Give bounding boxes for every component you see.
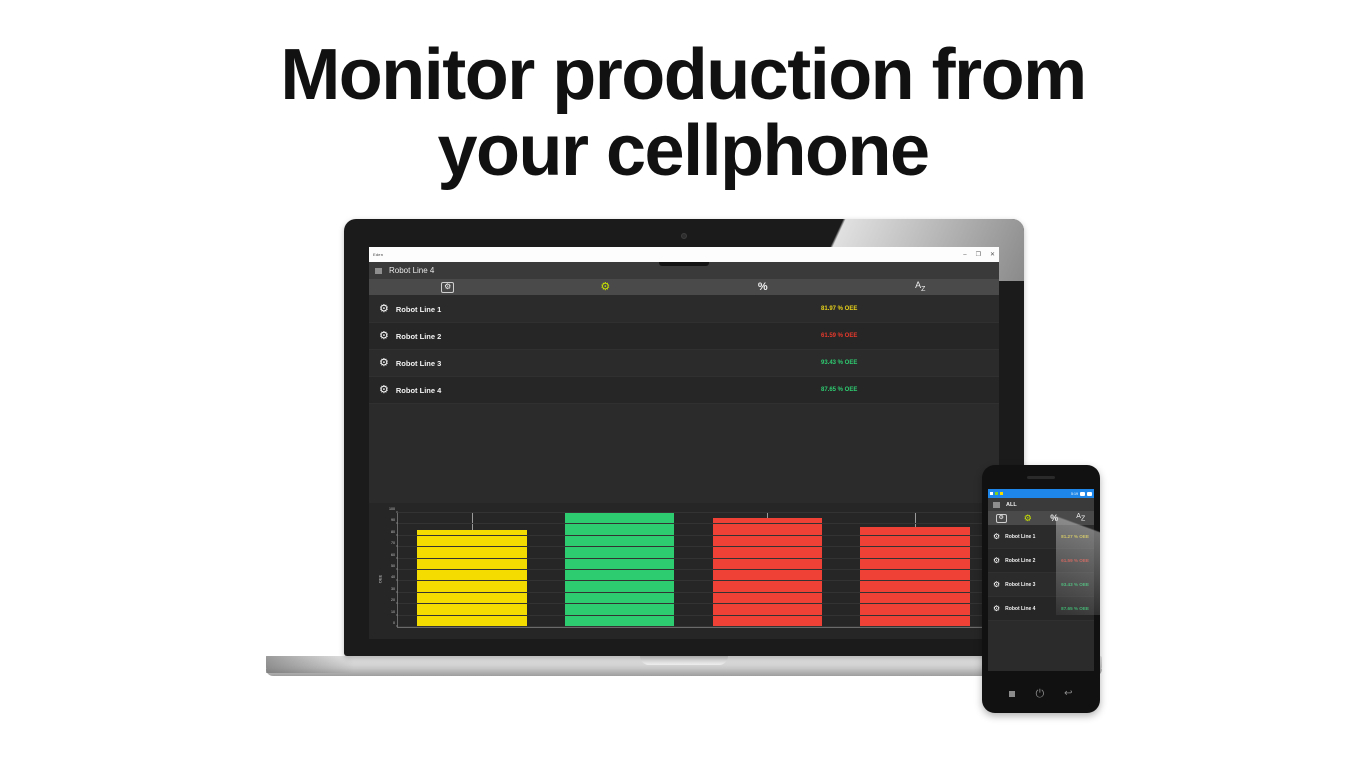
chart-y-tick-mark: [396, 626, 398, 627]
gear-icon: ⚙: [993, 581, 1000, 589]
machine-name: Robot Line 1: [396, 305, 441, 314]
status-time: 5:19: [1071, 492, 1078, 496]
headline-line-2: your cellphone: [0, 114, 1366, 190]
chart-y-tick-label: 100: [389, 507, 398, 511]
chart-gridline: [398, 603, 989, 604]
chart-y-tick-mark: [396, 546, 398, 547]
machine-name: Robot Line 1: [1005, 534, 1061, 540]
chart-gridline: [398, 512, 989, 513]
status-system-icons: 5:19: [1071, 492, 1092, 496]
percent-icon: %: [1050, 514, 1058, 523]
phone-machine-list: ⚙ Robot Line 1 81.27 % OEE ⚙ Robot Line …: [988, 525, 1094, 621]
chart-bar-cell: [841, 513, 989, 627]
machine-view-glyph: ⚙: [999, 515, 1004, 521]
machine-name: Robot Line 2: [1005, 558, 1061, 564]
close-button[interactable]: ✕: [990, 252, 995, 258]
laptop-screen-notch: [659, 262, 709, 266]
chart-gridline: [398, 546, 989, 547]
toolbar-gear-status[interactable]: ⚙: [527, 279, 685, 295]
chart-gridline: [398, 626, 989, 627]
gear-icon: ⚙: [993, 557, 1000, 565]
machine-view-glyph: ⚙: [444, 283, 451, 291]
chart-y-tick-mark: [396, 614, 398, 615]
toolbar-machine-view[interactable]: ⚙: [369, 279, 527, 295]
gear-icon: ⚙: [379, 304, 389, 315]
laptop-screen: Eden – ❐ ✕ Robot Line 4: [369, 247, 999, 639]
chart-bar[interactable]: [860, 527, 969, 627]
machine-name: Robot Line 2: [396, 332, 441, 341]
chart-y-axis-label: OEE: [378, 574, 383, 582]
laptop-mockup: Eden – ❐ ✕ Robot Line 4: [344, 219, 1024, 659]
battery-icon: [1087, 492, 1092, 496]
window-app-name: Eden: [373, 252, 383, 257]
list-item[interactable]: ⚙ Robot Line 2 61.59 % OEE: [988, 549, 1094, 573]
oee-value: 87.65 % OEE: [821, 387, 857, 393]
toolbar-percent[interactable]: %: [684, 279, 842, 295]
table-row[interactable]: ⚙ Robot Line 2 61.59 % OEE: [369, 323, 999, 350]
phone-toolbar-machine-view[interactable]: ⚙: [988, 511, 1015, 525]
phone-toolbar: ⚙ ⚙ % AZ: [988, 511, 1094, 525]
chart-y-tick-label: 50: [391, 564, 398, 568]
phone-app-header: ALL: [988, 498, 1094, 511]
chart-y-tick-label: 80: [391, 530, 398, 534]
webcam-icon: [681, 233, 687, 239]
chart-y-tick-mark: [396, 557, 398, 558]
sort-az-icon: AZ: [915, 281, 925, 293]
gear-icon: ⚙: [379, 385, 389, 396]
page-title: Monitor production from your cellphone: [0, 38, 1366, 189]
laptop-base-edge: [266, 669, 1102, 676]
oee-value: 93.43 % OEE: [1061, 582, 1089, 587]
chart-bar-cell: [398, 513, 546, 627]
chart-y-tick-label: 0: [393, 621, 398, 625]
chart-bar[interactable]: [565, 513, 674, 627]
headline-line-1: Monitor production from: [280, 35, 1085, 115]
power-icon[interactable]: ⏻: [1035, 689, 1044, 700]
sort-az-letter-z: Z: [921, 286, 925, 293]
window-controls: – ❐ ✕: [963, 247, 995, 262]
status-icon-3: [1000, 492, 1003, 495]
chart-y-tick-mark: [396, 569, 398, 570]
machine-view-icon: ⚙: [996, 514, 1007, 523]
gear-icon: ⚙: [379, 358, 389, 369]
machine-list: ⚙ Robot Line 1 81.97 % OEE ⚙ Robot Line …: [369, 296, 999, 404]
phone-app-title: ALL: [1006, 502, 1017, 508]
status-icon-2: [995, 492, 998, 495]
laptop-base-shadow: [266, 656, 354, 673]
chart-y-tick-label: 90: [391, 518, 398, 522]
list-item[interactable]: ⚙ Robot Line 3 93.43 % OEE: [988, 573, 1094, 597]
phone-toolbar-percent[interactable]: %: [1041, 511, 1068, 525]
chart-error-bar: [767, 513, 768, 518]
chart-gridline: [398, 569, 989, 570]
app-title: Robot Line 4: [389, 266, 434, 275]
chart-y-tick-mark: [396, 534, 398, 535]
oee-value: 61.59 % OEE: [821, 333, 857, 339]
app-header: Robot Line 4: [369, 262, 999, 279]
chart-y-tick-label: 20: [391, 598, 398, 602]
sort-az-icon: AZ: [1076, 513, 1085, 522]
machine-name: Robot Line 4: [1005, 606, 1061, 612]
chart-y-tick-mark: [396, 591, 398, 592]
chart-y-tick-label: 70: [391, 541, 398, 545]
minimize-button[interactable]: –: [963, 252, 966, 258]
app-toolbar: ⚙ ⚙ % AZ: [369, 279, 999, 296]
chart-gridline: [398, 580, 989, 581]
chart-gridline: [398, 523, 989, 524]
list-item[interactable]: ⚙ Robot Line 1 81.27 % OEE: [988, 525, 1094, 549]
status-notification-icons: [990, 492, 1003, 495]
back-icon[interactable]: ↩: [1064, 689, 1072, 699]
phone-nav-bar: ⏻ ↩: [982, 675, 1100, 713]
chart-y-tick-label: 40: [391, 575, 398, 579]
percent-icon: %: [758, 282, 768, 293]
phone-speaker: [1027, 476, 1055, 479]
phone-status-bar: 5:19: [988, 489, 1094, 498]
gear-icon: ⚙: [993, 605, 1000, 613]
laptop-lid: Eden – ❐ ✕ Robot Line 4: [344, 219, 1024, 656]
gear-icon: ⚙: [993, 533, 1000, 541]
chart-y-tick-label: 10: [391, 610, 398, 614]
chart-bar-cell: [546, 513, 694, 627]
phone-body: 5:19 ALL ⚙ ⚙: [982, 465, 1100, 713]
toolbar-sort-az[interactable]: AZ: [842, 279, 1000, 295]
maximize-button[interactable]: ❐: [976, 252, 981, 258]
oee-value: 81.27 % OEE: [1061, 534, 1089, 539]
chart-y-tick-mark: [396, 603, 398, 604]
hamburger-icon[interactable]: [375, 268, 382, 274]
chart-gridline: [398, 558, 989, 559]
machine-view-icon: ⚙: [441, 282, 454, 293]
table-row[interactable]: ⚙ Robot Line 1 81.97 % OEE: [369, 296, 999, 323]
chart-bar[interactable]: [417, 530, 526, 627]
list-item[interactable]: ⚙ Robot Line 4 87.65 % OEE: [988, 597, 1094, 621]
window-titlebar: Eden – ❐ ✕: [369, 247, 999, 262]
gear-status-icon: ⚙: [1024, 514, 1032, 523]
recents-icon[interactable]: [1009, 691, 1015, 697]
promo-slide: Monitor production from your cellphone E…: [0, 0, 1366, 768]
chart-bar-cell: [694, 513, 842, 627]
list-empty-area: [369, 404, 999, 503]
phone-toolbar-sort-az[interactable]: AZ: [1068, 511, 1095, 525]
chart-y-tick-mark: [396, 512, 398, 513]
laptop-base-notch: [640, 656, 728, 665]
phone-screen: 5:19 ALL ⚙ ⚙: [988, 489, 1094, 671]
gear-icon: ⚙: [379, 331, 389, 342]
sort-az-letter-z: Z: [1081, 516, 1085, 523]
machine-name: Robot Line 4: [396, 386, 441, 395]
phone-mockup: 5:19 ALL ⚙ ⚙: [982, 465, 1100, 713]
oee-value: 93.43 % OEE: [821, 360, 857, 366]
table-row[interactable]: ⚙ Robot Line 4 87.65 % OEE: [369, 377, 999, 404]
machine-name: Robot Line 3: [1005, 582, 1061, 588]
chart-error-bar: [472, 513, 473, 530]
chart-gridline: [398, 535, 989, 536]
oee-bar-chart: OEE 0102030405060708090100 OEEAvailabili…: [369, 503, 999, 639]
oee-value: 87.65 % OEE: [1061, 606, 1089, 611]
chart-plot-area: 0102030405060708090100: [397, 513, 989, 628]
chart-bars: [398, 513, 989, 627]
oee-value: 81.97 % OEE: [821, 306, 857, 312]
chart-y-tick-mark: [396, 580, 398, 581]
chart-gridline: [398, 592, 989, 593]
chart-y-tick-mark: [396, 523, 398, 524]
chart-gridline: [398, 615, 989, 616]
chart-y-tick-label: 60: [391, 553, 398, 557]
table-row[interactable]: ⚙ Robot Line 3 93.43 % OEE: [369, 350, 999, 377]
phone-toolbar-gear-status[interactable]: ⚙: [1015, 511, 1042, 525]
machine-name: Robot Line 3: [396, 359, 441, 368]
chart-error-bar: [915, 513, 916, 527]
signal-icon: [1080, 492, 1085, 496]
hamburger-icon[interactable]: [993, 502, 1000, 508]
chart-y-tick-label: 30: [391, 587, 398, 591]
oee-value: 61.59 % OEE: [1061, 558, 1089, 563]
status-icon-1: [990, 492, 993, 495]
gear-status-icon: ⚙: [600, 282, 610, 293]
